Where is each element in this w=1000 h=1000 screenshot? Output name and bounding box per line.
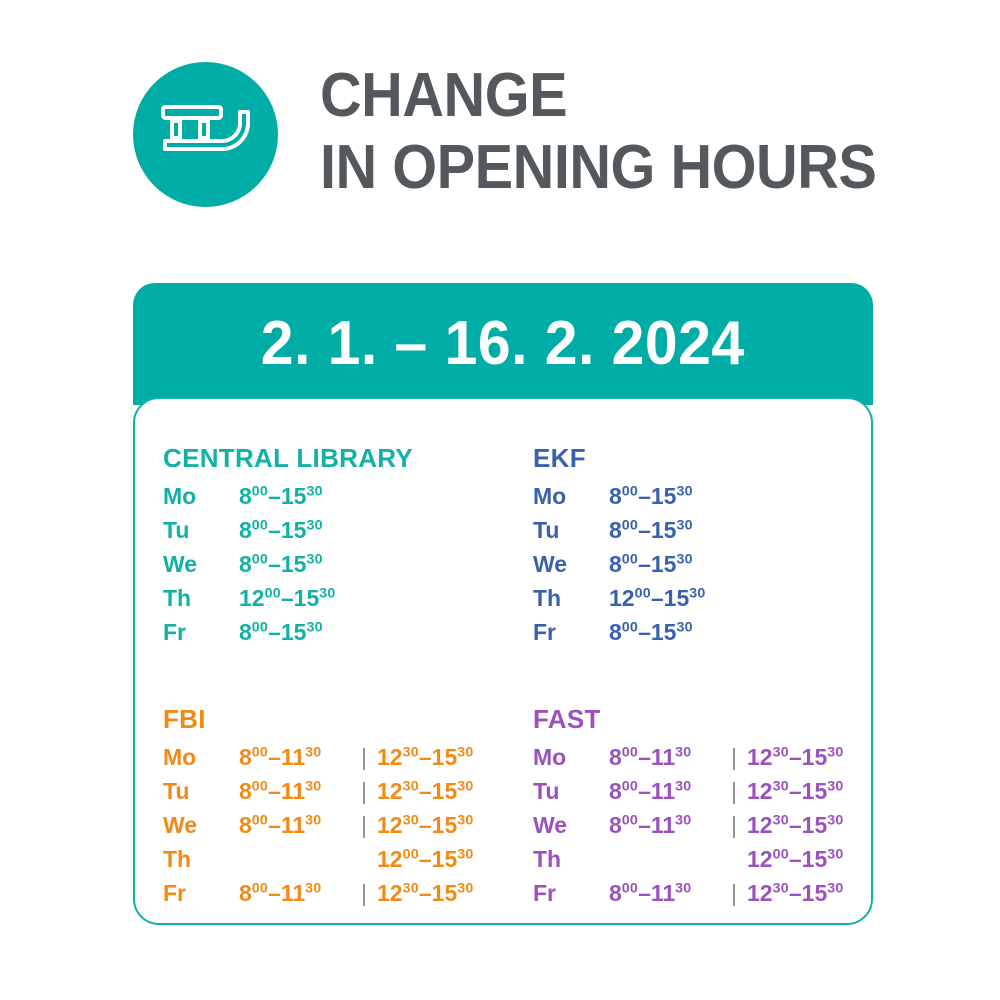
section-title: FAST	[533, 704, 871, 734]
time-slot-second: 1230–1530	[747, 876, 844, 910]
time-slot-first: 800–1530	[239, 513, 323, 547]
day-label: We	[163, 808, 239, 842]
hours-row: Tu800–1130|1230–1530	[163, 774, 533, 808]
day-label: Mo	[533, 479, 609, 513]
slot-separator: |	[351, 774, 377, 808]
sections-grid: CENTRAL LIBRARYMo800–1530Tu800–1530We800…	[135, 399, 871, 923]
time-slot-first: 800–1130	[239, 876, 351, 910]
hours-row: Fr800–1130|1230–1530	[163, 876, 533, 910]
hours-section: EKFMo800–1530Tu800–1530We800–1530Th1200–…	[533, 443, 871, 662]
hours-row: Mo800–1530	[163, 479, 533, 513]
time-slot-first: 800–1130	[609, 740, 721, 774]
slot-separator: |	[351, 808, 377, 842]
hours-section: FASTMo800–1130|1230–1530Tu800–1130|1230–…	[533, 704, 871, 923]
day-label: Mo	[533, 740, 609, 774]
time-slot-first: 800–1530	[609, 479, 693, 513]
time-slot-first: 1200–1530	[609, 581, 706, 615]
day-label: Mo	[163, 740, 239, 774]
time-slot-second: 1230–1530	[377, 876, 474, 910]
time-slot-first: 800–1130	[239, 774, 351, 808]
hours-row: Fr800–1530	[533, 615, 871, 649]
time-slot-first: 800–1530	[609, 547, 693, 581]
hours-row: Th1200–1530	[163, 581, 533, 615]
hours-row: Fr800–1530	[163, 615, 533, 649]
day-label: Th	[163, 581, 239, 615]
page-title-line-2: IN OPENING HOURS	[320, 132, 876, 204]
time-slot-first: 800–1530	[239, 547, 323, 581]
day-label: Fr	[533, 615, 609, 649]
hours-row: Tu800–1530	[163, 513, 533, 547]
time-slot-second: 1230–1530	[377, 740, 474, 774]
hours-row: Th1200–1530	[533, 581, 871, 615]
hours-row: We800–1130|1230–1530	[533, 808, 871, 842]
time-slot-first: 800–1130	[609, 774, 721, 808]
hours-row: Th1200–1530	[163, 842, 533, 876]
hours-row: We800–1530	[163, 547, 533, 581]
slot-separator: |	[721, 876, 747, 910]
hours-row: Mo800–1130|1230–1530	[533, 740, 871, 774]
section-title: CENTRAL LIBRARY	[163, 443, 533, 473]
poster-header: CHANGE IN OPENING HOURS	[133, 58, 893, 218]
hours-section: CENTRAL LIBRARYMo800–1530Tu800–1530We800…	[163, 443, 533, 662]
slot-separator: |	[351, 876, 377, 910]
time-slot-first: 800–1530	[609, 615, 693, 649]
time-slot-second: 1230–1530	[747, 774, 844, 808]
hours-card-body: CENTRAL LIBRARYMo800–1530Tu800–1530We800…	[133, 397, 873, 925]
day-label: We	[163, 547, 239, 581]
day-label: We	[533, 547, 609, 581]
hours-row: Tu800–1530	[533, 513, 871, 547]
hours-row: Mo800–1130|1230–1530	[163, 740, 533, 774]
day-label: Tu	[533, 513, 609, 547]
hours-row: Tu800–1130|1230–1530	[533, 774, 871, 808]
section-title: EKF	[533, 443, 871, 473]
date-range-text: 2. 1. – 16. 2. 2024	[261, 313, 745, 375]
title-block: CHANGE IN OPENING HOURS	[320, 58, 918, 204]
day-label: Tu	[163, 774, 239, 808]
hours-row: Fr800–1130|1230–1530	[533, 876, 871, 910]
slot-separator: |	[351, 740, 377, 774]
time-slot-first: 800–1530	[239, 479, 323, 513]
hours-row: We800–1130|1230–1530	[163, 808, 533, 842]
time-slot-first: 800–1130	[239, 808, 351, 842]
time-slot-first: 1200–1530	[239, 581, 336, 615]
day-label: Th	[533, 842, 609, 876]
time-slot-second: 1230–1530	[747, 740, 844, 774]
time-slot-second: 1200–1530	[377, 842, 474, 876]
slot-separator: |	[721, 740, 747, 774]
poster: CHANGE IN OPENING HOURS 2. 1. – 16. 2. 2…	[0, 0, 1000, 1000]
day-label: We	[533, 808, 609, 842]
day-label: Th	[163, 842, 239, 876]
page-title-line-1: CHANGE	[320, 60, 876, 132]
day-label: Fr	[163, 615, 239, 649]
sled-badge	[133, 62, 278, 207]
hours-card: 2. 1. – 16. 2. 2024 CENTRAL LIBRARYMo800…	[133, 283, 873, 925]
slot-separator: |	[721, 774, 747, 808]
time-slot-first: 800–1530	[609, 513, 693, 547]
day-label: Fr	[163, 876, 239, 910]
hours-row: Th1200–1530	[533, 842, 871, 876]
time-slot-second: 1230–1530	[377, 808, 474, 842]
day-label: Tu	[533, 774, 609, 808]
time-slot-second: 1230–1530	[377, 774, 474, 808]
slot-separator: |	[721, 808, 747, 842]
time-slot-first: 800–1130	[609, 876, 721, 910]
hours-row: Mo800–1530	[533, 479, 871, 513]
time-slot-second: 1200–1530	[747, 842, 844, 876]
day-label: Fr	[533, 876, 609, 910]
day-label: Tu	[163, 513, 239, 547]
day-label: Mo	[163, 479, 239, 513]
time-slot-second: 1230–1530	[747, 808, 844, 842]
time-slot-first: 800–1130	[609, 808, 721, 842]
hours-section: FBIMo800–1130|1230–1530Tu800–1130|1230–1…	[163, 704, 533, 923]
section-title: FBI	[163, 704, 533, 734]
date-range-banner: 2. 1. – 16. 2. 2024	[133, 283, 873, 405]
day-label: Th	[533, 581, 609, 615]
sled-icon	[160, 104, 252, 166]
hours-row: We800–1530	[533, 547, 871, 581]
time-slot-first: 800–1530	[239, 615, 323, 649]
time-slot-first: 800–1130	[239, 740, 351, 774]
